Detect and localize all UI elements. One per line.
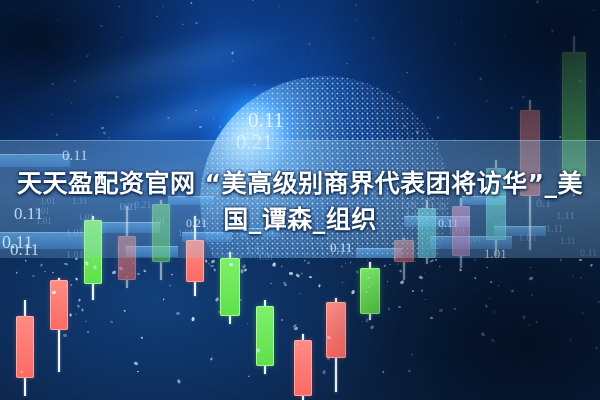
page-title-line-1: 天天盈配资官网 “美高级别商界代表团将访华”_美	[4, 166, 596, 202]
title-overlay-band-edge	[0, 140, 600, 141]
banner-image: 0.110.210.111.011.110.111.011.010.111.01…	[0, 0, 600, 400]
page-title: 天天盈配资官网 “美高级别商界代表团将访华”_美 国_谭森_组织	[0, 166, 600, 238]
page-title-line-2: 国_谭森_组织	[4, 202, 596, 238]
